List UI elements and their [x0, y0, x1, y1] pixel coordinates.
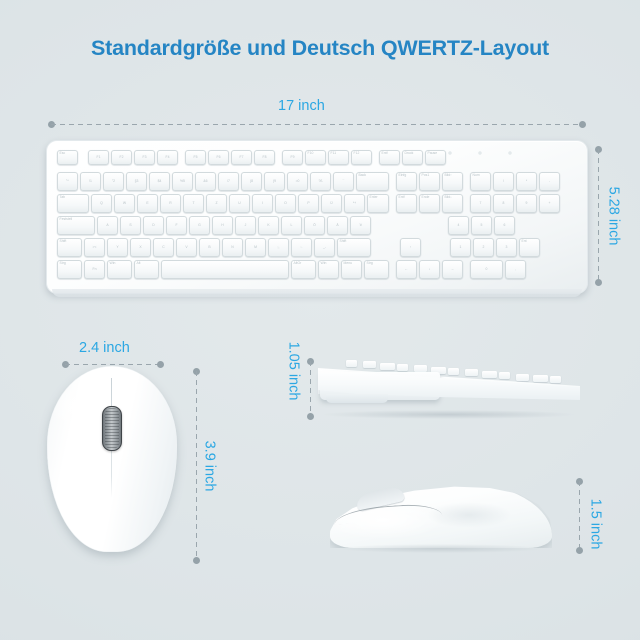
key-label: Einfg: [399, 174, 407, 178]
key-8: 8: [493, 194, 514, 213]
key-label: ,: [515, 268, 516, 272]
keyboard-side-key: [397, 364, 408, 371]
key-ende: Ende: [419, 194, 440, 213]
key-label: 6: [504, 224, 506, 228]
key-shift: Shift: [57, 238, 82, 257]
key-label: W: [123, 202, 126, 206]
key-label: P: [307, 202, 309, 206]
key-strg: Strg: [364, 260, 389, 279]
key-label: "2: [112, 180, 115, 184]
key-space: _-: [314, 238, 335, 257]
key-label: /: [503, 180, 504, 184]
mouse-height-label: 1.5 inch: [587, 499, 603, 550]
key-enter: Enter: [367, 194, 389, 213]
key-label: F3: [143, 156, 147, 160]
mouse-length-label: 3.9 inch: [201, 441, 217, 492]
key-space: ,: [505, 260, 526, 279]
key-label: 3: [506, 246, 508, 250]
key-label: Pause: [428, 152, 438, 156]
dimension-dashed-line: [196, 371, 197, 561]
key-label: Pos1: [422, 174, 430, 178]
key-space: -: [539, 172, 560, 191]
key-label: Enter: [370, 196, 378, 200]
key-o: O: [275, 194, 296, 213]
key-label: 8: [503, 202, 505, 206]
key-win: Win: [318, 260, 339, 279]
key-pos1: Pos1: [419, 172, 440, 191]
dimension-dashed-line: [579, 481, 580, 551]
key-space: °^: [57, 172, 78, 191]
key-label: Tab: [60, 196, 65, 200]
key-3: §3: [126, 172, 147, 191]
key-label: J: [245, 224, 247, 228]
key-label: Entf: [399, 196, 405, 200]
key-label: ↓: [429, 268, 431, 272]
key-label: Ü: [330, 202, 332, 206]
key-2: 2: [473, 238, 494, 257]
key-l: L: [281, 216, 302, 235]
key-i: I: [252, 194, 273, 213]
key-f2: F2: [111, 150, 132, 165]
key-label: F6: [217, 156, 221, 160]
key-esc: Esc: [57, 150, 78, 165]
key-space: *+: [344, 194, 365, 213]
key-f1: F1: [88, 150, 109, 165]
key-f12: F12: [351, 150, 372, 165]
key-space: *: [516, 172, 537, 191]
key-x: X: [130, 238, 151, 257]
mouse-shell: [47, 366, 177, 552]
keyboard-side-key: [533, 375, 548, 382]
key-space: →: [442, 260, 463, 279]
key-f9: F9: [282, 150, 303, 165]
key-label: F11: [331, 152, 337, 156]
mouse-width-label: 2.4 inch: [79, 340, 130, 356]
scroll-wheel: [102, 406, 122, 451]
key-label: Feststell: [60, 218, 73, 222]
key-label: ↑: [410, 246, 412, 250]
key-label: F: [175, 224, 177, 228]
key-q: Q: [91, 194, 112, 213]
key-label: F8: [263, 156, 267, 160]
key-space: /: [493, 172, 514, 191]
key-9: 9: [516, 194, 537, 213]
key-5: 5: [471, 216, 492, 235]
key-v: V: [176, 238, 197, 257]
key-feststell: Feststell: [57, 216, 95, 235]
key-6: 6: [494, 216, 515, 235]
key-label: ><: [93, 246, 97, 250]
key-label: B: [208, 246, 210, 250]
mouse-length-dimension-line: [193, 368, 200, 564]
key-label: Entf: [382, 152, 388, 156]
key-label: `´: [342, 180, 344, 184]
key-pause: Pause: [425, 150, 446, 165]
keyboard-width-dimension-line: [48, 121, 586, 128]
mouse-height-dimension-line: [576, 478, 583, 554]
key-h: H: [212, 216, 233, 235]
key-g: G: [189, 216, 210, 235]
key-label: Strg: [367, 262, 373, 266]
key-entf: Entf: [379, 150, 400, 165]
key-druck: Druck: [402, 150, 423, 165]
key-label: %5: [180, 180, 185, 184]
key-f4: F4: [157, 150, 178, 165]
key-label: *+: [353, 202, 356, 206]
key-p: P: [298, 194, 319, 213]
key-label: 9: [526, 202, 528, 206]
key-label: F7: [240, 156, 244, 160]
key-label: O: [284, 202, 287, 206]
key-label: Shift: [60, 240, 67, 244]
key-label: Back: [359, 174, 367, 178]
key-label: Num: [473, 174, 480, 178]
key-label: AltGr: [294, 262, 302, 266]
key-label: U: [238, 202, 240, 206]
dimension-dashed-line: [51, 124, 583, 125]
key-label: F9: [291, 156, 295, 160]
infographic-canvas: Standardgröße und Deutsch QWERTZ-Layout …: [0, 0, 640, 640]
keyboard-side-key: [363, 361, 376, 368]
key-label: C: [162, 246, 164, 250]
key-label: Q: [100, 202, 103, 206]
key-altgr: AltGr: [291, 260, 316, 279]
key-entf: Entf: [396, 194, 417, 213]
key-w: W: [114, 194, 135, 213]
key-win: Win: [107, 260, 132, 279]
key-strg: Strg: [57, 260, 82, 279]
key-label: T: [192, 202, 194, 206]
key-back: Back: [356, 172, 389, 191]
mouse-side-shadow: [338, 544, 542, 553]
key-label: ;,: [278, 246, 280, 250]
key-space: ><: [84, 238, 105, 257]
key-label: Ent: [522, 240, 527, 244]
key-label: S: [129, 224, 131, 228]
key-space: ↓: [419, 260, 440, 279]
key-space: `´: [333, 172, 354, 191]
key-space: +: [539, 194, 560, 213]
key-u: U: [229, 194, 250, 213]
key-label: +: [549, 202, 551, 206]
key-n: N: [222, 238, 243, 257]
keyboard-depth-dimension-line: [595, 146, 602, 286]
key-label: Ende: [422, 196, 430, 200]
key-label: Fn: [93, 268, 97, 272]
key-label: F12: [354, 152, 360, 156]
key-label: V: [185, 246, 187, 250]
key-menu: Menu: [341, 260, 362, 279]
key-label: Ö: [313, 224, 316, 228]
key-label: *: [526, 180, 527, 184]
key-j: J: [235, 216, 256, 235]
caps-lock-led: [479, 152, 481, 154]
key-label: 5: [481, 224, 483, 228]
key-label: /7: [227, 180, 230, 184]
key-label: $4: [158, 180, 162, 184]
key-label: K: [267, 224, 269, 228]
key-8: (8: [241, 172, 262, 191]
key-label: (8: [250, 180, 253, 184]
key-label: Y: [116, 246, 118, 250]
key-label: Win: [321, 262, 327, 266]
key-0: 0: [470, 260, 503, 279]
key-r: R: [160, 194, 181, 213]
key-m: M: [245, 238, 266, 257]
key-label: !1: [89, 180, 92, 184]
key-3: 3: [496, 238, 517, 257]
key-label: X: [139, 246, 141, 250]
key-label: M: [254, 246, 257, 250]
mouse-side-view: [330, 476, 552, 556]
key-7: /7: [218, 172, 239, 191]
key-label: A: [106, 224, 108, 228]
key-label: →: [451, 268, 454, 272]
key-label: F2: [120, 156, 124, 160]
dimension-dashed-line: [65, 364, 161, 365]
key-label: °^: [66, 180, 69, 184]
key-space: Ö: [304, 216, 325, 235]
key-label: Win: [110, 262, 116, 266]
key-space: ←: [396, 260, 417, 279]
dimension-dashed-line: [310, 361, 311, 417]
keyboard-height-label: 1.05 inch: [285, 342, 301, 401]
key-label: Esc: [60, 152, 66, 156]
key-label: I: [262, 202, 263, 206]
key-label: _-: [323, 246, 326, 250]
key-alt: Alt: [134, 260, 159, 279]
num-lock-led: [449, 152, 451, 154]
key-tab: Tab: [57, 194, 89, 213]
keyboard-side-key: [346, 360, 357, 367]
key-4: $4: [149, 172, 170, 191]
key-space: ↑: [400, 238, 421, 257]
key-t: T: [183, 194, 204, 213]
mouse-side-highlight: [426, 502, 512, 528]
key-label: Alt: [137, 262, 141, 266]
dimension-endpoint-dot: [193, 557, 200, 564]
key-label: Ä: [336, 224, 338, 228]
key-label: =0: [296, 180, 300, 184]
key-f11: F11: [328, 150, 349, 165]
key-label: F4: [166, 156, 170, 160]
keyboard-side-view: [318, 352, 580, 424]
key-fn: Fn: [84, 260, 105, 279]
key-9: )9: [264, 172, 285, 191]
key-label: ?ß: [319, 180, 323, 184]
key-label: '#: [359, 224, 362, 228]
keyboard-width-label: 17 inch: [278, 98, 325, 114]
dimension-dashed-line: [598, 149, 599, 283]
key-label: L: [291, 224, 293, 228]
key-bild: Bild↓: [442, 194, 463, 213]
key-label: F5: [194, 156, 198, 160]
key-0: =0: [287, 172, 308, 191]
key-4: 4: [448, 216, 469, 235]
keyboard-side-key: [550, 376, 561, 383]
key-bild: Bild↑: [442, 172, 463, 191]
keyboard-side-key: [465, 369, 478, 376]
mouse-top-view: [47, 366, 177, 552]
key-label: E: [146, 202, 148, 206]
key-label: Menu: [344, 262, 352, 266]
key-shift: Shift: [337, 238, 371, 257]
key-f3: F3: [134, 150, 155, 165]
key-label: H: [221, 224, 223, 228]
key-space: Ü: [321, 194, 342, 213]
key-label: Z: [215, 202, 217, 206]
key-z: Z: [206, 194, 227, 213]
key-label: 1: [460, 246, 462, 250]
dimension-endpoint-dot: [579, 121, 586, 128]
key-label: Strg: [60, 262, 66, 266]
key-label: -: [549, 180, 550, 184]
key-label: 2: [483, 246, 485, 250]
keyboard-top-view: EscF1F2F3F4F5F6F7F8F9F10F11F12EntfDruckP…: [46, 140, 588, 294]
key-label: F10: [308, 152, 314, 156]
key-d: D: [143, 216, 164, 235]
page-title: Standardgröße und Deutsch QWERTZ-Layout: [0, 36, 640, 61]
key-f: F: [166, 216, 187, 235]
key-label: Shift: [340, 240, 347, 244]
key-s: S: [120, 216, 141, 235]
key-label: Druck: [405, 152, 414, 156]
keyboard-side-shadow: [324, 410, 574, 419]
key-label: R: [169, 202, 171, 206]
key-y: Y: [107, 238, 128, 257]
key-space: '#: [350, 216, 371, 235]
key-k: K: [258, 216, 279, 235]
key-einfg: Einfg: [396, 172, 417, 191]
dimension-endpoint-dot: [576, 547, 583, 554]
keyboard-depth-label: 5.28 inch: [605, 187, 621, 246]
key-f10: F10: [305, 150, 326, 165]
key-space: [161, 260, 289, 279]
scroll-lock-led: [509, 152, 511, 154]
key-space: Ä: [327, 216, 348, 235]
keyboard-side-key: [448, 368, 459, 375]
keyboard-height-dimension-line: [307, 358, 314, 420]
key-f5: F5: [185, 150, 206, 165]
key-label: &6: [203, 180, 207, 184]
key-space: ?ß: [310, 172, 331, 191]
key-2: "2: [103, 172, 124, 191]
key-space: ;,: [268, 238, 289, 257]
keyboard-side-key: [380, 363, 395, 370]
keyboard-side-key: [482, 371, 497, 378]
key-label: G: [198, 224, 201, 228]
key-num: Num: [470, 172, 491, 191]
key-space: :.: [291, 238, 312, 257]
key-f6: F6: [208, 150, 229, 165]
key-7: 7: [470, 194, 491, 213]
key-label: ←: [405, 268, 408, 272]
key-label: )9: [273, 180, 276, 184]
key-label: 0: [486, 268, 488, 272]
key-c: C: [153, 238, 174, 257]
key-label: N: [231, 246, 233, 250]
keyboard-side-key: [499, 372, 510, 379]
key-label: Bild↓: [445, 196, 452, 200]
key-label: Bild↑: [445, 174, 452, 178]
key-1: 1: [450, 238, 471, 257]
key-f8: F8: [254, 150, 275, 165]
dimension-endpoint-dot: [595, 279, 602, 286]
key-label: :.: [301, 246, 303, 250]
key-label: §3: [135, 180, 139, 184]
key-5: %5: [172, 172, 193, 191]
keyboard-side-foot: [326, 394, 388, 403]
key-label: 4: [458, 224, 460, 228]
key-b: B: [199, 238, 220, 257]
dimension-endpoint-dot: [307, 413, 314, 420]
key-e: E: [137, 194, 158, 213]
keyboard-side-key: [516, 374, 529, 381]
key-1: !1: [80, 172, 101, 191]
key-f7: F7: [231, 150, 252, 165]
key-a: A: [97, 216, 118, 235]
key-label: 7: [480, 202, 482, 206]
key-label: F1: [97, 156, 101, 160]
key-ent: Ent: [519, 238, 540, 257]
key-6: &6: [195, 172, 216, 191]
key-label: D: [152, 224, 154, 228]
